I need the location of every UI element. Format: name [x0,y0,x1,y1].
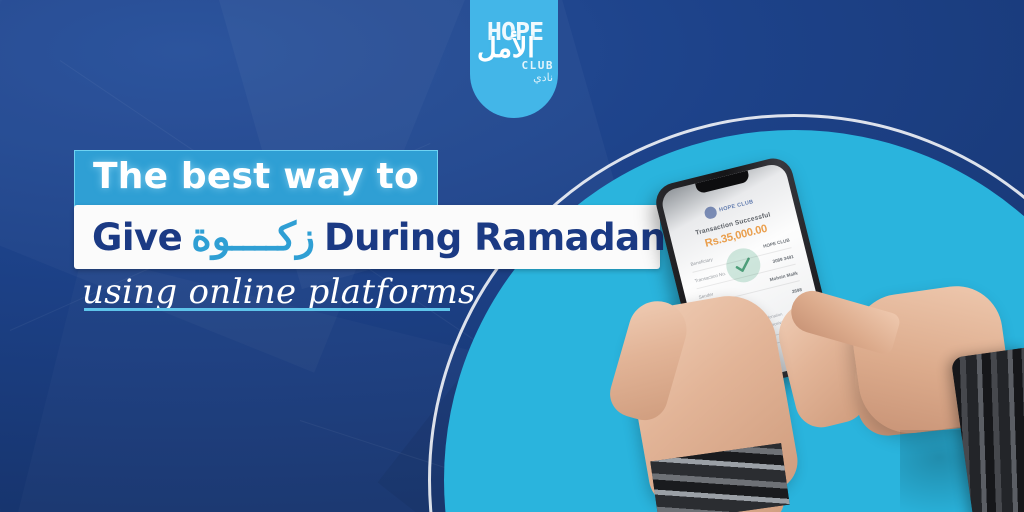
logo-club-arabic-text: نادي [533,71,553,84]
receipt-brand-text: HOPE CLUB [719,199,755,213]
headline-line-1: The best way to [74,150,438,207]
logo-inner: HOPE الأمل CLUB نادي [475,13,553,87]
promo-banner: HOPE الأمل CLUB نادي The best way to Giv… [0,0,1024,512]
headline-during-ramadan: During Ramadan [324,216,665,259]
receipt-row-value: HOPE CLUB [763,237,790,248]
receipt-row-value: 3089 3491 [772,253,794,263]
hope-club-logo[interactable]: HOPE الأمل CLUB نادي [470,0,558,118]
headline-line-3: using online platforms [82,272,476,312]
headline-give-word: Give [92,216,182,259]
receipt-row-value: Mohsin Malik [769,270,798,282]
headline-line-3-underline [84,308,450,311]
receipt-row-label: Beneficiary [690,256,713,266]
headline-line-2: Give زكــــوة During Ramadan [74,205,660,269]
logo-arabic-text: الأمل [477,35,533,62]
receipt-logo-icon [703,205,718,220]
headline-zakat-arabic: زكــــوة [182,215,324,260]
